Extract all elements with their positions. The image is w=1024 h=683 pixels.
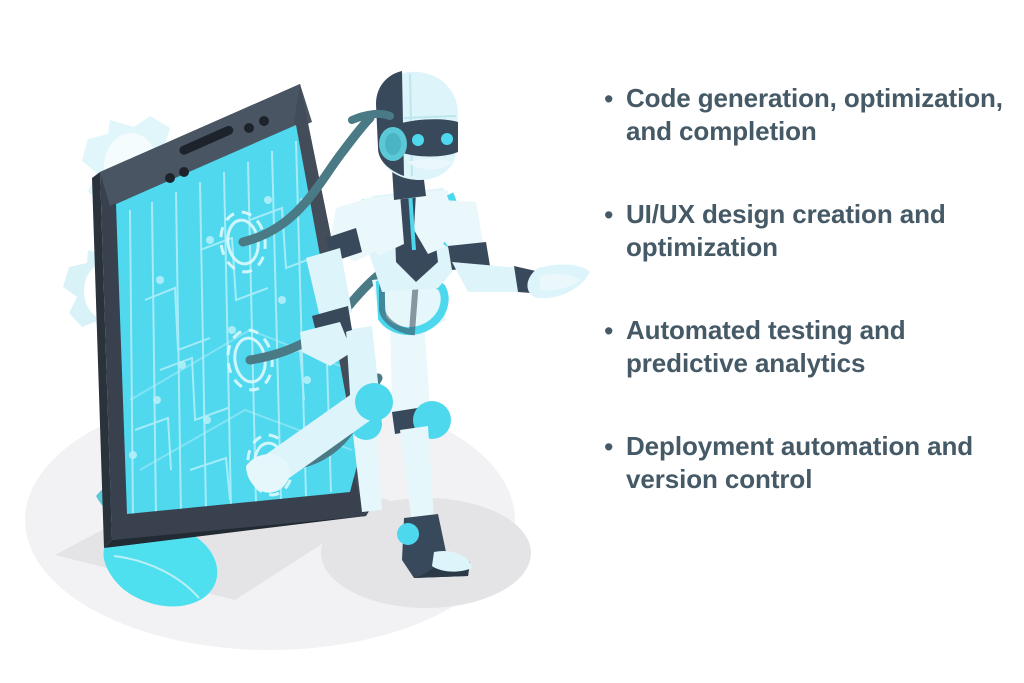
robot-smartphone-illustration: [0, 0, 620, 683]
bullet-marker-icon: •: [604, 430, 626, 464]
phone-camera-dot-1: [165, 173, 175, 183]
robot-ankle-disc: [397, 523, 419, 545]
bullet-text: Automated testing and predictive analyti…: [626, 314, 1004, 380]
robot-eye-right: [441, 133, 453, 145]
robot-eye-left: [412, 134, 424, 146]
bullet-text: Code generation, optimization, and compl…: [626, 82, 1004, 148]
phone-sensor-dot-1: [244, 123, 254, 133]
bullet-text: Deployment automation and version contro…: [626, 430, 1004, 496]
feature-bullet-list: • Code generation, optimization, and com…: [604, 82, 1004, 496]
bullet-marker-icon: •: [604, 82, 626, 116]
robot-elbow-disc-reach: [355, 383, 393, 421]
list-item: • Deployment automation and version cont…: [604, 430, 1004, 496]
list-item: • Code generation, optimization, and com…: [604, 82, 1004, 148]
phone-camera-dot-2: [179, 167, 189, 177]
phone-sensor-dot-2: [259, 116, 269, 126]
robot-ear-disc-inner: [385, 133, 401, 155]
slide-canvas: • Code generation, optimization, and com…: [0, 0, 1024, 683]
list-item: • UI/UX design creation and optimization: [604, 198, 1004, 264]
bullet-text: UI/UX design creation and optimization: [626, 198, 1004, 264]
bullet-marker-icon: •: [604, 198, 626, 232]
bullet-marker-icon: •: [604, 314, 626, 348]
list-item: • Automated testing and predictive analy…: [604, 314, 1004, 380]
